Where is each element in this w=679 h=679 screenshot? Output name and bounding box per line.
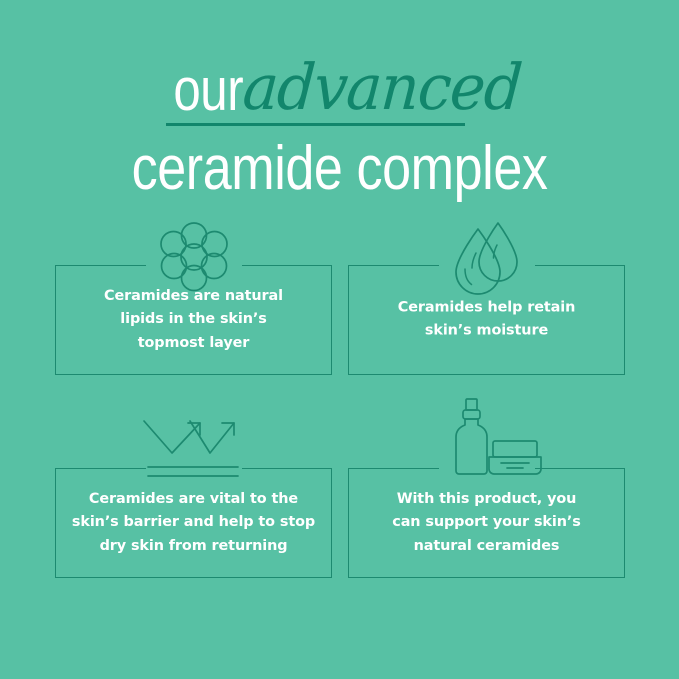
card-border-notch [146, 463, 242, 475]
card-text-line: can support your skin’s [327, 511, 646, 534]
card-border-notch [439, 260, 535, 272]
infographic-poster: ouradvanced ceramide complex Ceramides a… [0, 0, 679, 679]
card-ceramides-natural-lipids: Ceramides are natural lipids in the skin… [55, 265, 332, 375]
headline-word-advanced: advanced [241, 50, 524, 126]
card-text: With this product, you can support your … [327, 488, 646, 558]
card-ceramides-skin-barrier: Ceramides are vital to the skin’s barrie… [55, 468, 332, 578]
card-text-line: With this product, you [327, 488, 646, 511]
headline-line-2-text: ceramide complex [132, 133, 548, 204]
card-ceramides-retain-moisture: Ceramides help retain skin’s moisture [348, 265, 625, 375]
headline-line-2: ceramide complex [0, 133, 679, 204]
headline-underline-rule [166, 123, 465, 126]
card-text-line: natural ceramides [327, 535, 646, 558]
card-text-line: lipids in the skin’s [34, 308, 353, 331]
card-text: Ceramides help retain skin’s moisture [327, 297, 646, 344]
card-text-line: skin’s moisture [327, 320, 646, 343]
card-text-line: dry skin from returning [34, 535, 353, 558]
card-text-line: skin’s barrier and help to stop [34, 511, 353, 534]
card-text: Ceramides are natural lipids in the skin… [34, 285, 353, 355]
card-border-notch [146, 260, 242, 272]
headline-word-our: our [173, 54, 243, 126]
headline-line-1: ouradvanced [0, 52, 679, 124]
card-border-notch [439, 463, 535, 475]
card-text-line: Ceramides are natural [34, 285, 353, 308]
card-text-line: Ceramides are vital to the [34, 488, 353, 511]
card-text: Ceramides are vital to the skin’s barrie… [34, 488, 353, 558]
card-product-supports-ceramides: With this product, you can support your … [348, 468, 625, 578]
card-text-line: topmost layer [34, 332, 353, 355]
card-text-line: Ceramides help retain [327, 297, 646, 320]
water-drops-icon [445, 219, 529, 291]
flower-cells-icon [152, 221, 236, 291]
page-title: ouradvanced [0, 52, 679, 124]
